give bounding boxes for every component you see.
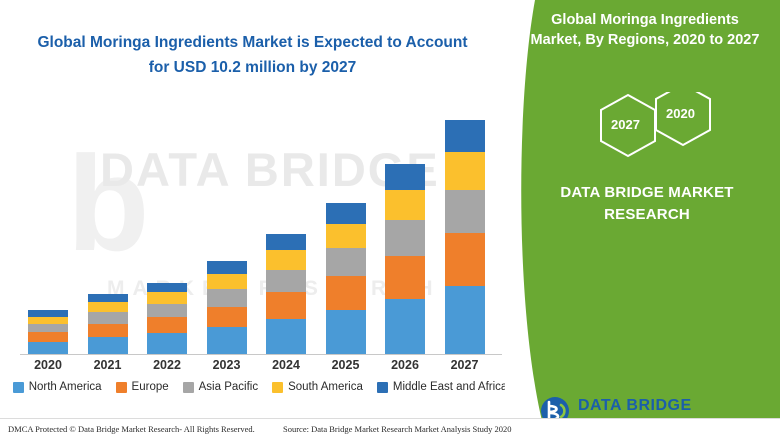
footer-source: Source: Data Bridge Market Research Mark… [283,424,512,434]
legend-swatch [116,382,127,393]
bar-segment[interactable] [88,302,128,312]
legend-label: Europe [132,381,169,393]
bar-segment[interactable] [445,190,485,234]
panel-title: Global Moringa Ingredients Market, By Re… [525,10,765,50]
bar-segment[interactable] [147,292,187,304]
bar-group[interactable] [207,261,247,354]
bar-segment[interactable] [385,164,425,190]
bar-segment[interactable] [326,203,366,224]
x-axis-tick-label: 2026 [375,358,435,372]
bar-segment[interactable] [28,332,68,342]
bar-segment[interactable] [207,327,247,354]
bar-segment[interactable] [385,256,425,299]
bar-group[interactable] [445,120,485,354]
stacked-bar-plot [0,95,520,355]
legend-swatch [13,382,24,393]
green-side-panel: Global Moringa Ingredients Market, By Re… [505,0,780,440]
bar-segment[interactable] [147,333,187,354]
bar-group[interactable] [147,283,187,354]
legend-label: Asia Pacific [199,381,258,393]
bar-segment[interactable] [445,233,485,286]
hex-label-2027: 2027 [611,117,640,132]
chart-area: Global Moringa Ingredients Market is Exp… [0,0,520,440]
bar-segment[interactable] [385,220,425,256]
x-axis-tick-label: 2022 [137,358,197,372]
bar-segment[interactable] [88,324,128,337]
bar-segment[interactable] [385,190,425,220]
legend-item[interactable]: Europe [116,381,169,393]
bar-segment[interactable] [88,294,128,302]
bar-group[interactable] [385,164,425,354]
bar-segment[interactable] [207,274,247,289]
x-axis-tick-label: 2023 [197,358,257,372]
x-axis-tick-label: 2027 [435,358,495,372]
chart-legend: North AmericaEuropeAsia PacificSouth Ame… [0,374,520,400]
footer-bar: DMCA Protected © Data Bridge Market Rese… [0,418,780,440]
legend-label: Middle East and Africa [393,381,507,393]
legend-label: North America [29,381,102,393]
bar-segment[interactable] [266,292,306,319]
bar-segment[interactable] [326,310,366,354]
bar-segment[interactable] [28,342,68,355]
bar-segment[interactable] [147,304,187,317]
bar-segment[interactable] [147,317,187,333]
legend-label: South America [288,381,363,393]
bar-segment[interactable] [88,337,128,354]
bar-segment[interactable] [326,248,366,277]
legend-item[interactable]: Asia Pacific [183,381,258,393]
logo-line-1: DATA BRIDGE [578,397,692,414]
bar-segment[interactable] [445,120,485,152]
hexagon-badges: 2027 2020 [533,92,763,170]
bar-segment[interactable] [28,317,68,324]
bar-group[interactable] [88,294,128,354]
bar-segment[interactable] [445,152,485,190]
x-axis-tick-label: 2021 [78,358,138,372]
bar-group[interactable] [28,310,68,354]
infographic-page: Global Moringa Ingredients Market is Exp… [0,0,780,440]
footer-copyright: DMCA Protected © Data Bridge Market Rese… [8,424,255,434]
chart-title: Global Moringa Ingredients Market is Exp… [30,30,475,80]
x-axis-tick-label: 2024 [256,358,316,372]
x-axis-line [20,354,502,355]
bar-segment[interactable] [207,307,247,328]
legend-item[interactable]: North America [13,381,102,393]
bar-segment[interactable] [326,224,366,248]
bar-segment[interactable] [326,276,366,310]
hexagon-shapes [533,92,763,170]
bar-segment[interactable] [385,299,425,354]
bar-group[interactable] [266,234,306,354]
bar-segment[interactable] [445,286,485,354]
panel-brand-text: DATA BRIDGE MARKET RESEARCH [533,182,761,226]
bar-segment[interactable] [147,283,187,293]
bar-segment[interactable] [207,289,247,307]
legend-item[interactable]: South America [272,381,363,393]
x-axis-tick-label: 2025 [316,358,376,372]
x-axis-tick-label: 2020 [18,358,78,372]
bar-segment[interactable] [266,319,306,354]
bar-segment[interactable] [266,270,306,292]
legend-swatch [272,382,283,393]
legend-item[interactable]: Middle East and Africa [377,381,507,393]
bar-segment[interactable] [28,324,68,332]
bar-segment[interactable] [88,312,128,324]
legend-swatch [377,382,388,393]
bar-segment[interactable] [266,250,306,270]
hex-label-2020: 2020 [666,106,695,121]
legend-swatch [183,382,194,393]
bar-group[interactable] [326,203,366,354]
bar-segment[interactable] [266,234,306,250]
bar-segment[interactable] [207,261,247,274]
